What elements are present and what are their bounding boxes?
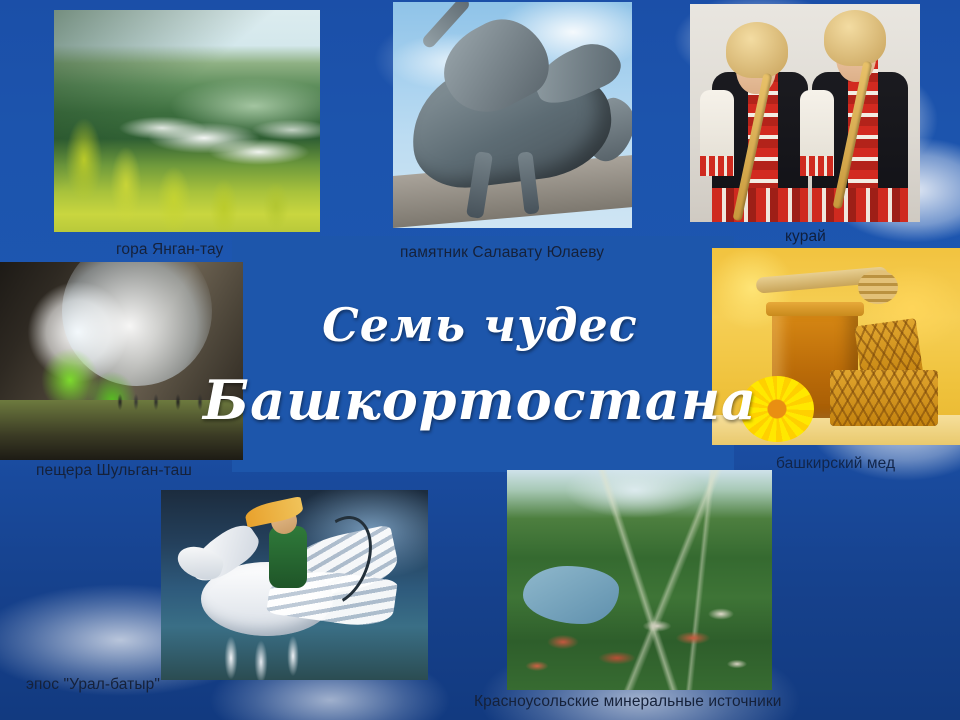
kurai-player-a-cuff bbox=[700, 156, 734, 176]
kurai-player-b-cuff bbox=[800, 156, 834, 176]
kurai-player-b-fur-hat bbox=[824, 10, 886, 66]
presentation-slide: гора Янган-тау памятник Салавату Юлаеву bbox=[0, 0, 960, 720]
batyr-rider-body bbox=[269, 526, 307, 588]
kurai-player-a-fur-hat bbox=[726, 22, 788, 78]
slide-title-line-1: Семь чудес bbox=[0, 298, 960, 352]
caption-krasnousolsk: Красноусольские минеральные источники bbox=[474, 693, 782, 711]
caption-bashkir-honey: башкирский мед bbox=[776, 455, 895, 473]
caption-shulgan-tash: пещера Шульган-таш bbox=[36, 462, 192, 480]
salavat-monument-image bbox=[393, 2, 632, 228]
kurai-player-a-skirt bbox=[712, 188, 808, 222]
yangan-tau-image bbox=[54, 10, 320, 232]
ural-batyr-image bbox=[161, 490, 428, 680]
title-backdrop bbox=[232, 236, 734, 472]
caption-yangan-tau: гора Янган-тау bbox=[116, 241, 223, 259]
photo-krasnousolsk bbox=[507, 470, 772, 690]
photo-ural-batyr bbox=[161, 490, 428, 680]
caption-kurai: курай bbox=[785, 228, 826, 246]
slide-title-line-2: Башкортостана bbox=[0, 368, 960, 432]
kurai-player-b-skirt bbox=[812, 188, 908, 222]
photo-yangan-tau bbox=[54, 10, 320, 232]
photo-kurai bbox=[690, 4, 920, 222]
photo-salavat-monument bbox=[393, 2, 632, 228]
krasnousolsk-image bbox=[507, 470, 772, 690]
resort-buildings bbox=[507, 580, 772, 690]
kurai-image bbox=[690, 4, 920, 222]
caption-ural-batyr: эпос "Урал-батыр" bbox=[26, 676, 160, 694]
caption-salavat-monument: памятник Салавату Юлаеву bbox=[400, 244, 604, 262]
